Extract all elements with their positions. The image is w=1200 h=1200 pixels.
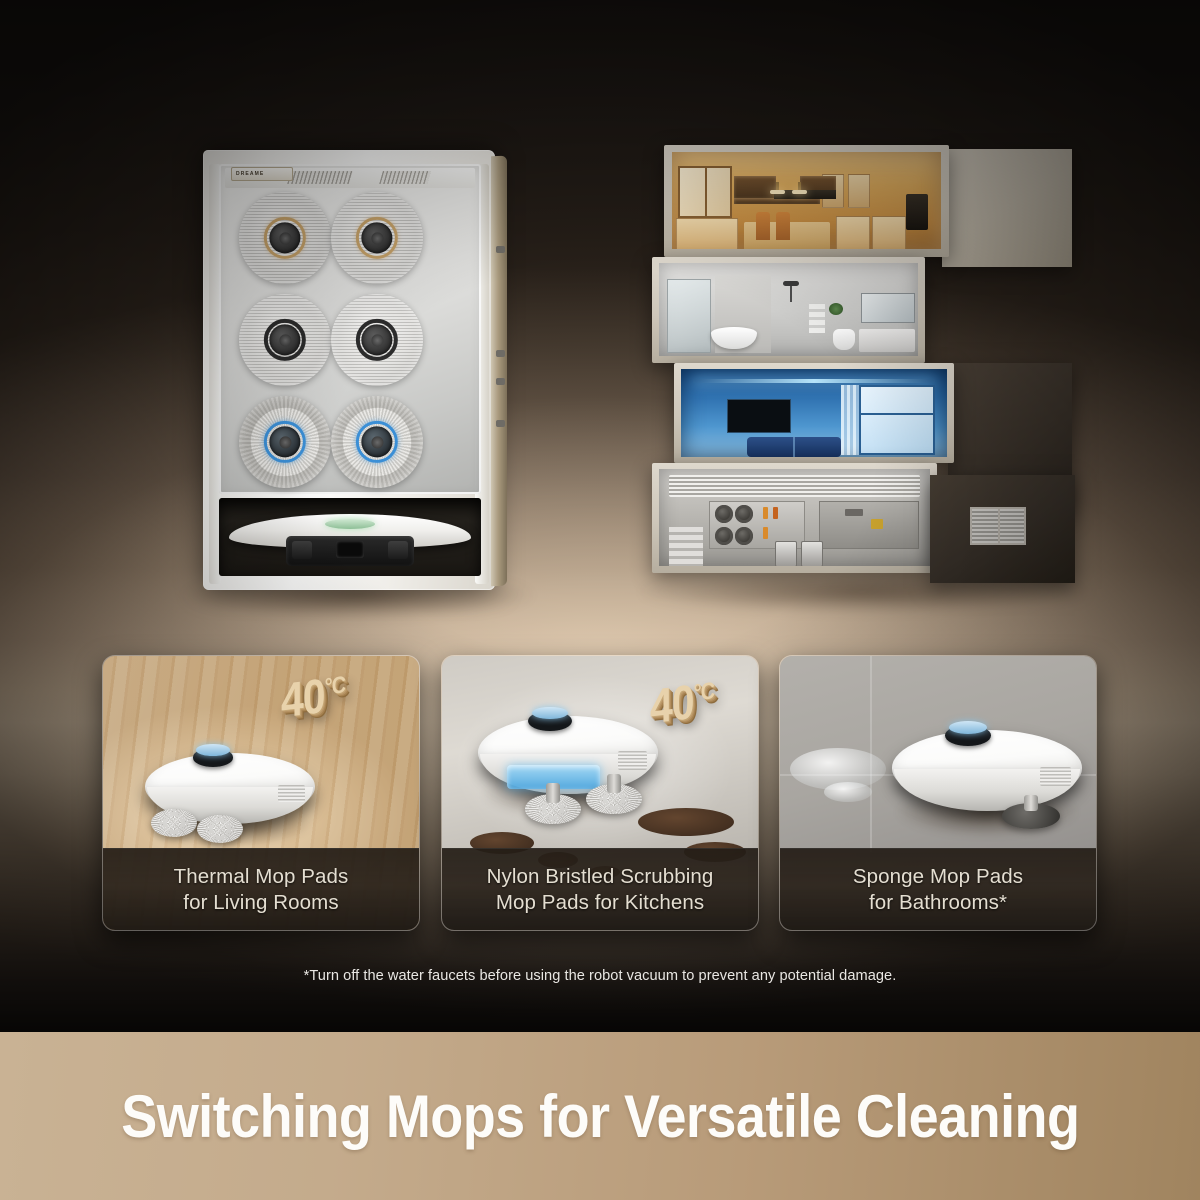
caption-line-2: for Bathrooms* <box>869 890 1007 916</box>
mop-pad-nylon <box>525 794 581 824</box>
robot-vacuum-illustration <box>478 704 658 822</box>
caption-line-1: Sponge Mop Pads <box>853 864 1023 890</box>
feature-panel-sponge-bathroom[interactable]: Sponge Mop Pads for Bathrooms* <box>779 655 1097 931</box>
feature-panels: 40°C Thermal Mop Pads for Living Rooms 4… <box>0 0 1200 1032</box>
mop-pad-spindle <box>607 774 620 793</box>
panel-caption: Thermal Mop Pads for Living Rooms <box>103 848 419 930</box>
caption-line-2: Mop Pads for Kitchens <box>496 890 704 916</box>
robot-vent-icon <box>618 751 647 770</box>
robot-vent-icon <box>278 785 305 802</box>
temperature-label: 40°C <box>281 666 345 729</box>
caption-line-1: Thermal Mop Pads <box>174 864 349 890</box>
caption-line-1: Nylon Bristled Scrubbing <box>487 864 714 890</box>
panel-caption: Nylon Bristled Scrubbing Mop Pads for Ki… <box>442 848 758 930</box>
mop-pad-spindle <box>1024 795 1038 812</box>
feature-panel-nylon-kitchen[interactable]: 40°C Nylon Bristled Scrubbing Mop Pads f… <box>441 655 759 931</box>
banner-title: Switching Mops for Versatile Cleaning <box>121 1082 1079 1151</box>
feature-panel-thermal-living-room[interactable]: 40°C Thermal Mop Pads for Living Rooms <box>102 655 420 931</box>
robot-lidar-icon <box>193 748 234 766</box>
robot-vacuum-illustration <box>892 718 1082 840</box>
panel-caption: Sponge Mop Pads for Bathrooms* <box>780 848 1096 930</box>
temperature-unit: °C <box>325 672 345 700</box>
robot-vent-icon <box>1040 767 1070 787</box>
footnote-text: *Turn off the water faucets before using… <box>0 968 1200 984</box>
mop-pad-thermal <box>151 809 197 837</box>
robot-lidar-icon <box>945 725 991 746</box>
caption-line-2: for Living Rooms <box>183 890 338 916</box>
temperature-value: 40 <box>281 668 325 728</box>
temperature-label: 40°C <box>650 672 714 735</box>
bottom-banner: Switching Mops for Versatile Cleaning <box>0 1032 1200 1200</box>
temperature-unit: °C <box>694 678 714 706</box>
robot-lidar-icon <box>528 711 571 731</box>
robot-vacuum-illustration <box>145 742 315 850</box>
water-puddle <box>824 782 872 802</box>
mop-pad-spindle <box>546 783 559 802</box>
